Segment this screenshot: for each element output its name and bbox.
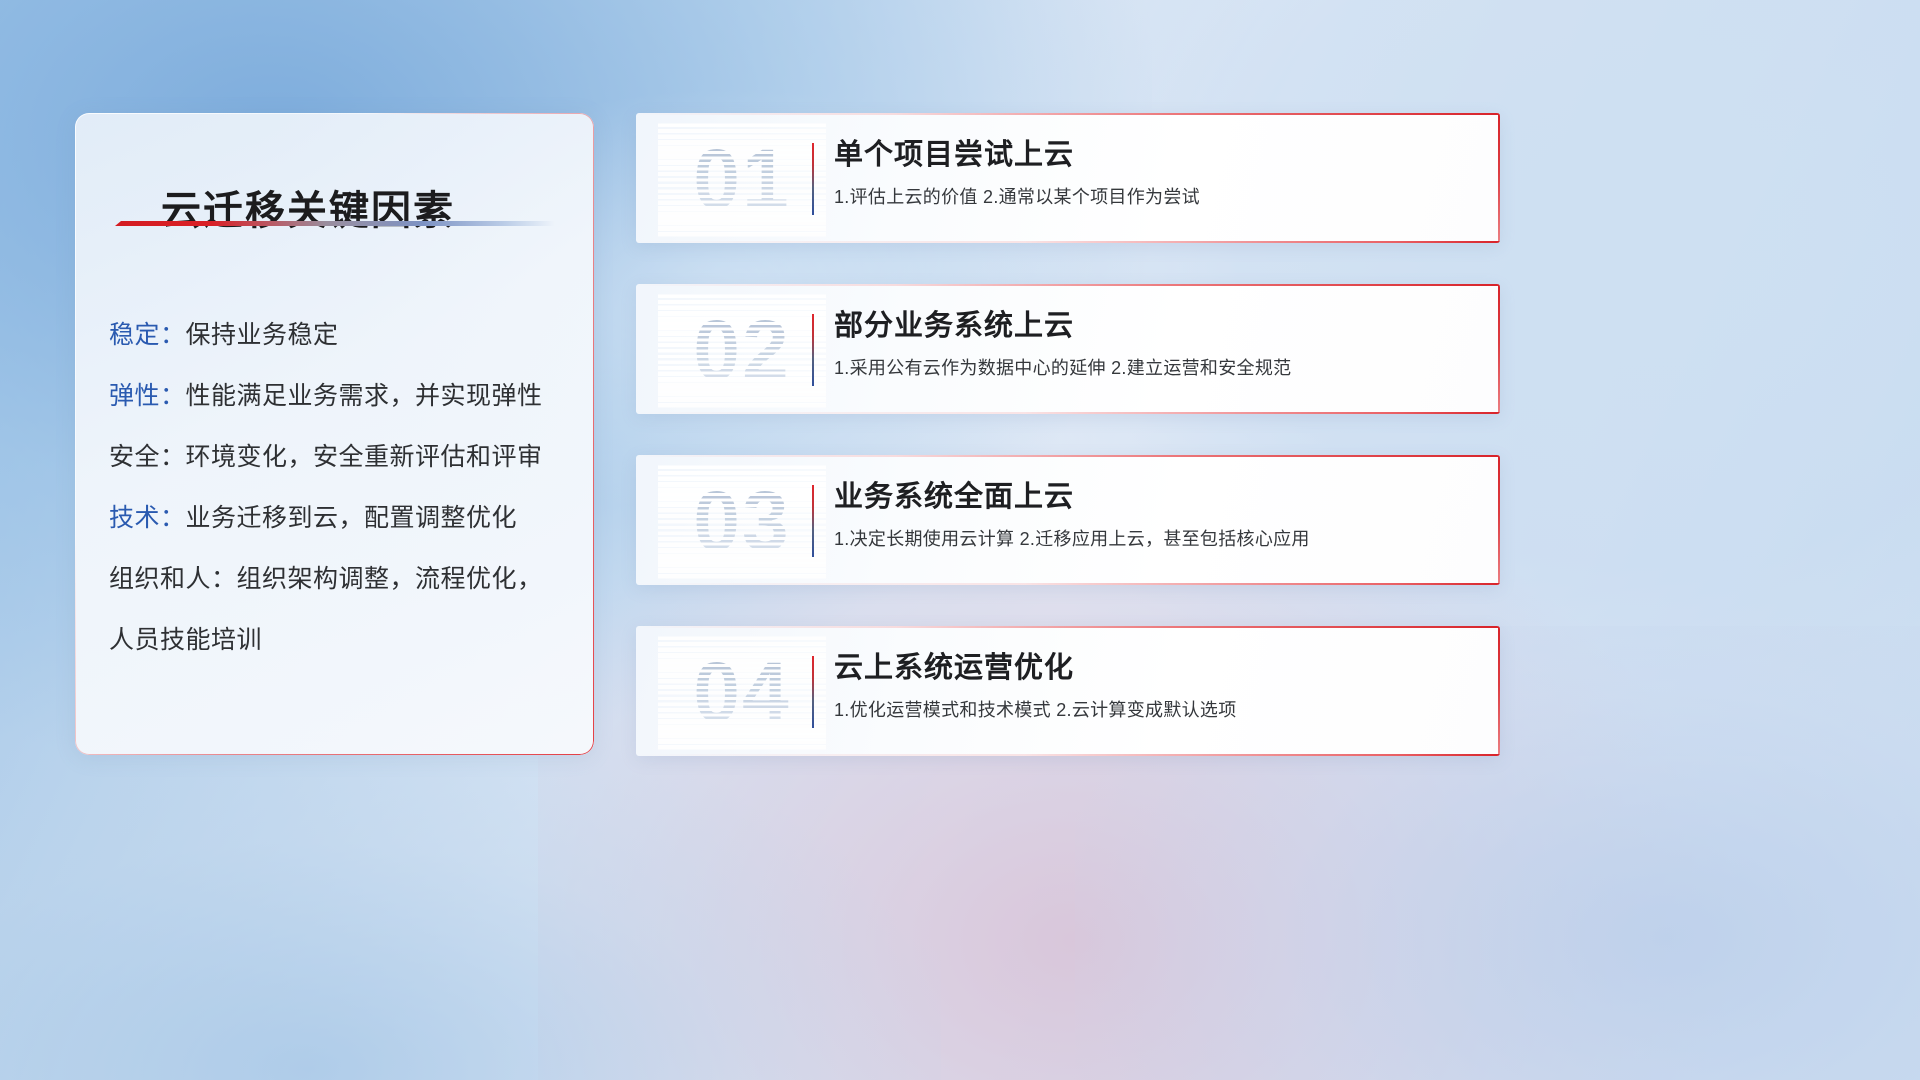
stage-description: 1.采用公有云作为数据中心的延伸 2.建立运营和安全规范 [834,355,1476,381]
card-right-accent-line [1498,284,1500,414]
factor-desc: 保持业务稳定 [186,321,339,349]
stage-number-watermark: 01 [658,121,826,237]
stage-card-03[interactable]: 03 业务系统全面上云 1.决定长期使用云计算 2.迁移应用上云，甚至包括核心应… [636,455,1500,585]
card-divider-bar [812,143,814,215]
factor-desc: 业务迁移到云，配置调整优化 [186,504,518,532]
stage-card-02[interactable]: 02 部分业务系统上云 1.采用公有云作为数据中心的延伸 2.建立运营和安全规范 [636,284,1500,414]
card-body: 单个项目尝试上云 1.评估上云的价值 2.通常以某个项目作为尝试 [834,135,1476,210]
stage-number-text: 02 [693,302,790,399]
key-factors-panel: 云迁移关键因素 稳定：保持业务稳定 弹性：性能满足业务需求，并实现弹性 安全：环… [75,113,594,755]
factor-label: 技术： [109,504,186,532]
factor-row-elasticity: 弹性：性能满足业务需求，并实现弹性 [109,366,579,427]
factor-label: 安全： [109,443,186,471]
factor-desc: 环境变化，安全重新评估和评审 [186,443,543,471]
factor-row-stability: 稳定：保持业务稳定 [109,305,579,366]
card-body: 业务系统全面上云 1.决定长期使用云计算 2.迁移应用上云，甚至包括核心应用 [834,477,1476,552]
card-body: 云上系统运营优化 1.优化运营模式和技术模式 2.云计算变成默认选项 [834,648,1476,723]
factor-desc: 组织架构调整，流程优化， [237,565,543,593]
stage-number-watermark: 03 [658,463,826,579]
factor-row-technology: 技术：业务迁移到云，配置调整优化 [109,488,579,549]
stage-title: 云上系统运营优化 [834,648,1476,688]
factor-row-organization: 组织和人：组织架构调整，流程优化， [109,549,579,610]
stage-number-watermark: 02 [658,292,826,408]
stage-number-text: 03 [693,473,790,570]
stage-number-text: 04 [693,644,790,741]
factor-list: 稳定：保持业务稳定 弹性：性能满足业务需求，并实现弹性 安全：环境变化，安全重新… [109,305,579,671]
factor-label: 弹性： [109,382,186,410]
card-divider-bar [812,485,814,557]
stage-card-04[interactable]: 04 云上系统运营优化 1.优化运营模式和技术模式 2.云计算变成默认选项 [636,626,1500,756]
card-bottom-accent-line [636,241,1500,243]
factor-label: 稳定： [109,321,186,349]
stage-number-text: 01 [693,131,790,228]
card-top-accent-line [636,455,1500,457]
stage-title: 业务系统全面上云 [834,477,1476,517]
stage-number-watermark: 04 [658,634,826,750]
factor-desc: 性能满足业务需求，并实现弹性 [186,382,543,410]
card-bottom-accent-line [636,583,1500,585]
card-right-accent-line [1498,455,1500,585]
factor-label: 组织和人： [109,565,237,593]
card-divider-bar [812,314,814,386]
card-bottom-accent-line [636,412,1500,414]
title-underline-rule [115,221,555,226]
factor-row-organization-continued: 人员技能培训 [109,610,579,671]
card-right-accent-line [1498,113,1500,243]
card-top-accent-line [636,113,1500,115]
card-top-accent-line [636,626,1500,628]
card-top-accent-line [636,284,1500,286]
card-body: 部分业务系统上云 1.采用公有云作为数据中心的延伸 2.建立运营和安全规范 [834,306,1476,381]
migration-stage-list: 01 单个项目尝试上云 1.评估上云的价值 2.通常以某个项目作为尝试 02 部… [636,113,1500,797]
card-right-accent-line [1498,626,1500,756]
stage-card-01[interactable]: 01 单个项目尝试上云 1.评估上云的价值 2.通常以某个项目作为尝试 [636,113,1500,243]
stage-description: 1.评估上云的价值 2.通常以某个项目作为尝试 [834,184,1476,210]
card-divider-bar [812,656,814,728]
stage-title: 单个项目尝试上云 [834,135,1476,175]
stage-description: 1.优化运营模式和技术模式 2.云计算变成默认选项 [834,697,1476,723]
page-title: 云迁移关键因素 [161,178,455,236]
factor-row-security: 安全：环境变化，安全重新评估和评审 [109,427,579,488]
card-bottom-accent-line [636,754,1500,756]
stage-title: 部分业务系统上云 [834,306,1476,346]
stage-description: 1.决定长期使用云计算 2.迁移应用上云，甚至包括核心应用 [834,526,1476,552]
